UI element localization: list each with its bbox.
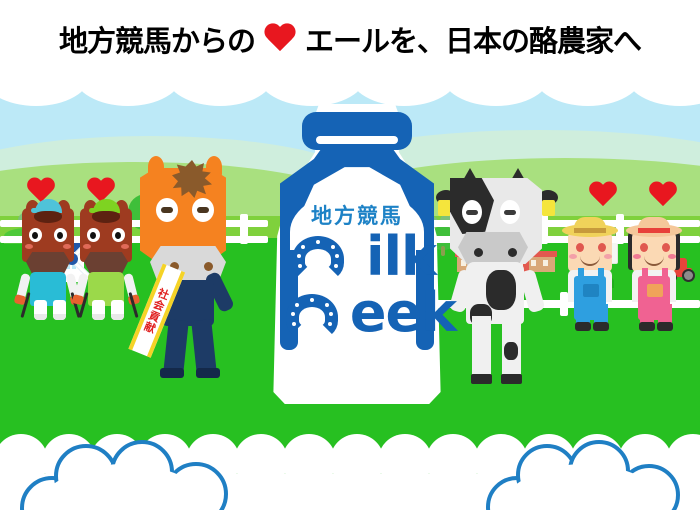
scallop-bump [330, 434, 384, 488]
cloud-bump [626, 78, 700, 106]
horseshoe-w-icon [286, 294, 338, 340]
cloud-bump [350, 78, 458, 106]
jockey-horse-blue [22, 208, 80, 326]
mascot-horse-orange: 社 会 貢 献 [134, 168, 244, 386]
farmer-woman [626, 224, 684, 334]
sash-char: 献 [143, 320, 157, 334]
promo-banner: 地方競馬からの エールを、日本の酪農家へ [0, 0, 700, 510]
cloud-bump [442, 78, 550, 106]
scallop-bump [426, 434, 480, 488]
scallop-bump [282, 434, 336, 488]
cloud-bump [534, 78, 642, 106]
jockey-horse-green [80, 208, 138, 326]
farmer-man [562, 224, 620, 334]
ear-tag-icon [542, 200, 555, 216]
horseshoe-m-icon [292, 236, 344, 282]
headline-left-text: 地方競馬からの [59, 18, 255, 60]
milk-week-logo: 地方競馬 ilk eek [262, 104, 452, 404]
scallop-bump [378, 434, 432, 488]
heart-icon [263, 24, 297, 55]
heart-icon [648, 182, 678, 209]
cloud-bump [258, 78, 366, 106]
headline: 地方競馬からの エールを、日本の酪農家へ [0, 0, 700, 78]
cow-spot [504, 342, 518, 360]
farm-scene: 社 会 貢 献 [0, 78, 700, 510]
cloud-bump [166, 78, 274, 106]
scallop-bump [234, 434, 288, 488]
heart-icon [588, 182, 618, 209]
bottle-cap [302, 112, 412, 150]
cloud-bump [74, 78, 182, 106]
headline-right-text: エールを、日本の酪農家へ [305, 18, 641, 60]
